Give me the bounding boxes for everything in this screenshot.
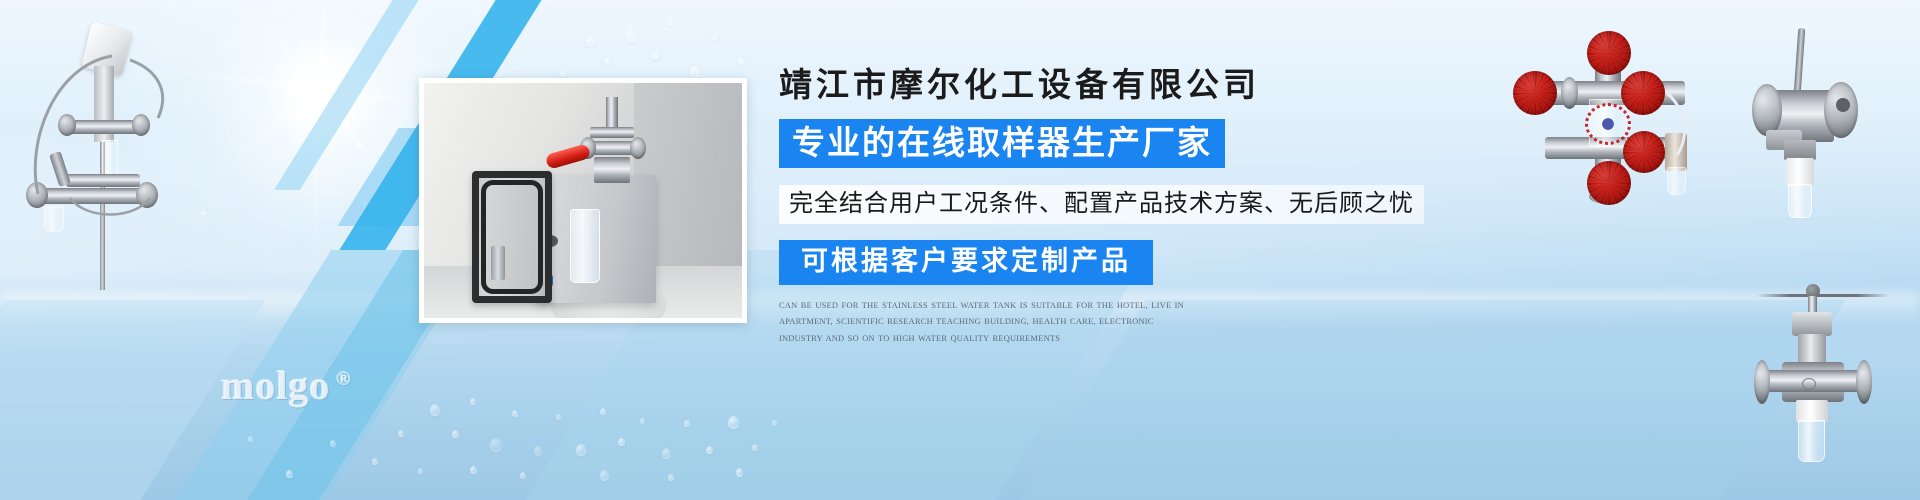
water-droplet <box>470 398 476 405</box>
water-droplet <box>652 52 659 60</box>
water-droplet <box>706 446 713 454</box>
water-droplet <box>534 446 542 456</box>
water-droplet <box>736 468 743 477</box>
water-droplet <box>560 70 566 77</box>
water-droplet <box>418 468 423 474</box>
photo-content <box>424 83 742 318</box>
sampler-cabinet-photo <box>419 78 747 323</box>
water-droplet <box>556 414 561 420</box>
tubing <box>8 22 194 290</box>
promo-banner: 靖江市摩尔化工设备有限公司 专业的在线取样器生产厂家 完全结合用户工况条件、配置… <box>0 0 1920 500</box>
lever-handle <box>1794 28 1806 94</box>
door-latch <box>491 246 505 280</box>
tubing <box>1497 33 1722 208</box>
sun-ray <box>317 87 318 89</box>
water-droplet <box>626 28 638 43</box>
lens-flare-dot <box>355 140 364 149</box>
product-cross-valve-sampler <box>1497 33 1722 208</box>
water-droplet <box>490 438 502 452</box>
sun-ray <box>316 88 318 89</box>
sample-bottle <box>1788 184 1812 218</box>
lens-flare-dot <box>200 210 206 216</box>
sun-ray <box>316 87 317 89</box>
flange-bore <box>1836 98 1850 112</box>
water-droplet <box>372 458 378 465</box>
water-droplet <box>576 444 586 456</box>
water-droplet <box>772 420 777 426</box>
product-lever-flange-sampler <box>1748 28 1908 233</box>
sun-ray <box>316 87 318 88</box>
company-name: 靖江市摩尔化工设备有限公司 <box>779 70 1399 103</box>
bonnet <box>1792 312 1832 336</box>
water-droplet <box>640 418 645 424</box>
sun-ray <box>316 88 318 89</box>
water-droplet <box>430 404 440 416</box>
sun-ray <box>316 87 317 88</box>
sample-bottle <box>1798 420 1825 462</box>
registered-mark-icon: ® <box>336 369 351 390</box>
outlet-sleeve <box>1796 400 1828 422</box>
water-droplet <box>512 410 518 417</box>
water-droplet <box>398 430 404 437</box>
water-droplet <box>600 470 609 481</box>
top-sampling-valve <box>582 97 644 189</box>
cross-handle <box>1756 294 1890 297</box>
sampler-enclosure <box>536 175 656 303</box>
watermark-text: molgo <box>221 363 330 408</box>
sun-ray <box>316 87 318 88</box>
valve-neck <box>1784 140 1816 160</box>
product-needle-flange-sampler <box>1752 278 1907 478</box>
tagline-primary: 专业的在线取样器生产厂家 <box>779 119 1225 168</box>
lens-flare-dot <box>360 200 367 207</box>
outlet-sleeve <box>1786 158 1814 186</box>
sun-ray <box>316 88 318 89</box>
water-droplet <box>684 420 690 427</box>
description-english: CAN BE USED FOR THE STAINLESS STEEL WATE… <box>779 298 1189 347</box>
flange-icon <box>1752 84 1782 136</box>
water-droplet <box>618 438 625 446</box>
sample-bottle <box>570 209 600 283</box>
sun-ray <box>317 87 318 89</box>
water-droplet <box>248 436 253 442</box>
water-droplet <box>586 36 595 47</box>
sun-flare-icon <box>198 0 448 220</box>
water-droplet <box>690 66 700 78</box>
product-online-sampler-assembly-left <box>8 22 194 290</box>
flange-icon <box>1754 360 1770 404</box>
water-droplet <box>470 466 477 474</box>
water-droplet <box>452 430 459 438</box>
brand-mark-icon <box>1802 378 1816 390</box>
water-droplet <box>728 416 739 429</box>
water-droplet <box>668 20 673 26</box>
flange-icon <box>1856 360 1872 404</box>
tagline-customization: 可根据客户要求定制产品 <box>779 240 1153 285</box>
sun-ray <box>316 88 318 89</box>
watermark-logo: molgo® <box>221 362 352 409</box>
water-droplet <box>752 444 758 451</box>
water-droplet <box>600 408 606 415</box>
water-droplet <box>330 440 336 447</box>
sun-ray <box>317 87 318 89</box>
water-droplet <box>668 474 674 481</box>
water-droplet <box>712 34 718 41</box>
sample-bottle <box>44 206 64 232</box>
copy-block: 靖江市摩尔化工设备有限公司 专业的在线取样器生产厂家 完全结合用户工况条件、配置… <box>779 70 1399 347</box>
water-droplet <box>738 58 744 65</box>
enclosure-door <box>472 171 552 303</box>
water-droplet <box>662 448 671 459</box>
water-droplet <box>604 58 610 65</box>
water-droplet <box>286 470 293 478</box>
water-droplet <box>520 472 526 479</box>
tagline-secondary: 完全结合用户工况条件、配置产品技术方案、无后顾之忧 <box>779 185 1424 224</box>
